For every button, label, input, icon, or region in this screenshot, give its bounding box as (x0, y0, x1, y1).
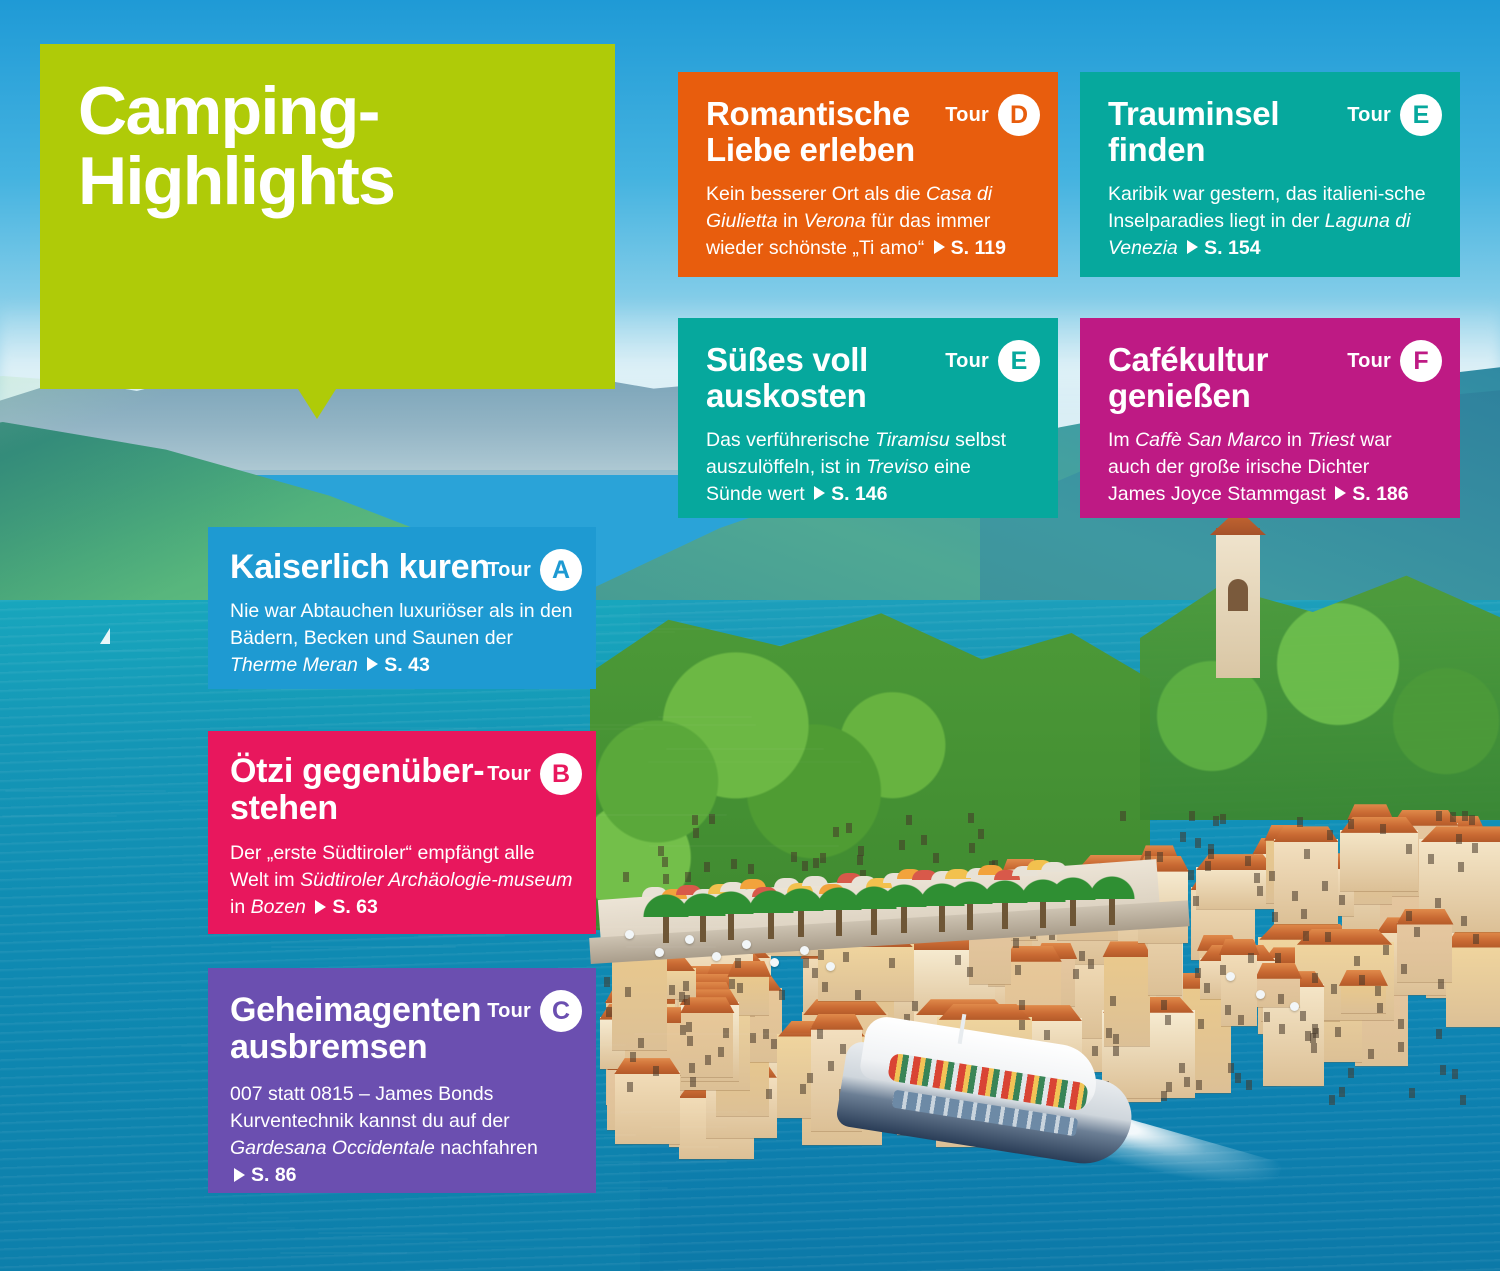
wave-line (318, 1232, 448, 1234)
window (748, 864, 754, 874)
window (1311, 1043, 1317, 1053)
buoy (742, 940, 751, 949)
palm-tree (836, 898, 842, 936)
window (1398, 1042, 1404, 1052)
window (731, 859, 737, 869)
play-triangle-icon (934, 240, 945, 254)
window (899, 840, 905, 850)
page-reference[interactable]: S. 154 (1183, 237, 1260, 259)
window (1297, 817, 1303, 827)
window (967, 967, 973, 977)
window (1383, 945, 1389, 955)
window (791, 852, 797, 862)
palm-tree (1040, 890, 1046, 928)
window (1264, 1012, 1270, 1022)
window (1165, 1015, 1171, 1025)
wave-line (308, 727, 477, 729)
window (1398, 1019, 1404, 1029)
window (1436, 811, 1442, 821)
window (766, 1089, 772, 1099)
wave-line (280, 1252, 408, 1254)
window (828, 1061, 834, 1071)
palm-tree (663, 905, 669, 943)
window (1312, 1024, 1318, 1034)
window (737, 983, 743, 993)
window (1079, 951, 1085, 961)
window (955, 955, 961, 965)
window (822, 982, 828, 992)
window (779, 990, 785, 1000)
wave-line (574, 926, 774, 928)
window (1278, 994, 1284, 1004)
window (669, 985, 675, 995)
window (813, 858, 819, 868)
window (1228, 1063, 1234, 1073)
window (692, 815, 698, 825)
tour-badge: TourF (1347, 340, 1442, 382)
window (1188, 870, 1194, 880)
tour-badge: TourE (1347, 94, 1442, 136)
window (1462, 811, 1468, 821)
wave-line (5, 790, 166, 792)
window (1401, 964, 1407, 974)
buoy (826, 962, 835, 971)
wave-line (589, 616, 740, 618)
window (1110, 996, 1116, 1006)
page-reference[interactable]: S. 186 (1331, 483, 1408, 505)
card-description: 007 statt 0815 – James Bonds Kurventechn… (230, 1081, 574, 1189)
place-name: Tiramisu (875, 429, 950, 451)
window (1377, 1003, 1383, 1013)
window (1245, 856, 1251, 866)
window (1335, 1027, 1341, 1037)
window (843, 952, 849, 962)
window (1359, 975, 1365, 985)
window (1327, 830, 1333, 840)
palm-tree (939, 894, 945, 932)
building (1196, 867, 1276, 909)
window (1019, 1000, 1025, 1010)
palm-tree (728, 902, 734, 940)
tour-badge: TourA (487, 549, 582, 591)
window (1073, 969, 1079, 979)
window (1452, 1069, 1458, 1079)
body-text: Kein besserer Ort als die (706, 183, 926, 205)
window (1195, 968, 1201, 978)
palm-tree (798, 899, 804, 937)
window (623, 872, 629, 882)
window (1246, 1080, 1252, 1090)
wave-line (649, 845, 838, 847)
wave-line (658, 716, 752, 718)
window (658, 846, 664, 856)
window (689, 1063, 695, 1073)
tour-letter-circle: A (540, 549, 582, 591)
window (1220, 814, 1226, 824)
wave-line (649, 628, 705, 630)
window (1406, 911, 1412, 921)
window (802, 861, 808, 871)
palm-tree (1109, 887, 1115, 925)
window (638, 1038, 644, 1048)
window (1339, 1087, 1345, 1097)
highlight-card-suesses-auskosten[interactable]: TourESüßes voll auskostenDas verführeris… (678, 318, 1058, 518)
window (1428, 854, 1434, 864)
highlight-card-cafekultur[interactable]: TourFCafékultur genießenIm Caffè San Mar… (1080, 318, 1460, 518)
place-name: Caffè San Marco (1135, 429, 1281, 451)
page-reference[interactable]: S. 86 (230, 1164, 297, 1186)
buoy (800, 946, 809, 955)
window (1189, 811, 1195, 821)
window (1198, 1019, 1204, 1029)
window (1331, 984, 1337, 994)
tour-label: Tour (1347, 350, 1391, 373)
wave-line (2, 815, 117, 817)
body-text: Das verführerische (706, 429, 875, 451)
window (800, 1084, 806, 1094)
body-text: Im (1108, 429, 1135, 451)
window (1325, 932, 1331, 942)
window (1301, 909, 1307, 919)
window (1180, 832, 1186, 842)
window (1354, 956, 1360, 966)
window (1435, 898, 1441, 908)
window (969, 843, 975, 853)
palm-tree (871, 897, 877, 935)
card-description: Der „erste Südtiroler“ empfängt alle Wel… (230, 840, 574, 921)
window (933, 853, 939, 863)
body-text: in (778, 210, 804, 232)
page-reference[interactable]: S. 146 (810, 483, 887, 505)
window (1015, 965, 1021, 975)
wave-line (666, 748, 825, 750)
window (1238, 1015, 1244, 1025)
place-name: Treviso (866, 456, 928, 478)
page-title: Camping- Highlights (78, 76, 394, 216)
window (978, 829, 984, 839)
window (604, 977, 610, 987)
body-text: Nie war Abtauchen luxuriöser als in den … (230, 600, 573, 649)
highlight-card-romantische-liebe[interactable]: TourDRomantische Liebe erlebenKein besse… (678, 72, 1058, 277)
tour-badge: TourE (945, 340, 1040, 382)
window (1161, 1000, 1167, 1010)
window (968, 813, 974, 823)
window (921, 835, 927, 845)
wave-line (449, 1246, 649, 1248)
window (771, 1039, 777, 1049)
window (1179, 1063, 1185, 1073)
tour-label: Tour (487, 1000, 531, 1023)
building (1446, 945, 1500, 1027)
window (833, 827, 839, 837)
play-triangle-icon (814, 486, 825, 500)
window (1292, 891, 1298, 901)
play-triangle-icon (367, 657, 378, 671)
palm-tree (768, 901, 774, 939)
window (1461, 916, 1467, 926)
place-name: Triest (1307, 429, 1354, 451)
wave-line (620, 1111, 748, 1113)
body-text: nachfahren (435, 1137, 538, 1159)
window (855, 990, 861, 1000)
window (1248, 953, 1254, 963)
card-description: Im Caffè San Marco in Triest war auch de… (1108, 427, 1432, 508)
tower-window (1228, 579, 1248, 611)
window (1257, 886, 1263, 896)
page-reference[interactable]: S. 43 (363, 654, 430, 676)
window (1204, 983, 1210, 993)
window (687, 1036, 693, 1046)
window (1375, 986, 1381, 996)
wave-line (147, 1069, 195, 1071)
title-callout: Camping- Highlights (40, 44, 615, 389)
window (1157, 852, 1163, 862)
window (1303, 931, 1309, 941)
buoy (770, 958, 779, 967)
window (818, 950, 824, 960)
palm-tree (967, 892, 973, 930)
building (1340, 830, 1418, 891)
wave-line (575, 1146, 718, 1148)
beach-umbrella (1041, 862, 1067, 872)
tour-badge: TourC (487, 990, 582, 1032)
window (812, 968, 818, 978)
window (679, 992, 685, 1002)
window (1348, 819, 1354, 829)
window (1275, 953, 1281, 963)
body-text: in (230, 896, 251, 918)
tour-badge: TourD (945, 94, 1040, 136)
callout-tail (298, 389, 336, 419)
ferry-boat (840, 1010, 1140, 1170)
window (1272, 912, 1278, 922)
window (1300, 1011, 1306, 1021)
tour-letter-circle: B (540, 753, 582, 795)
window (735, 958, 741, 968)
window (1456, 834, 1462, 844)
window (1193, 896, 1199, 906)
window (1322, 881, 1328, 891)
window (1368, 1049, 1374, 1059)
place-name: Verona (804, 210, 866, 232)
window (1304, 849, 1310, 859)
window (729, 979, 735, 989)
window (1440, 1065, 1446, 1075)
tour-label: Tour (945, 104, 989, 127)
buoy (1290, 1002, 1299, 1011)
place-name: Bozen (251, 896, 306, 918)
window (1450, 812, 1456, 822)
buoy (1226, 972, 1235, 981)
tour-letter-circle: D (998, 94, 1040, 136)
wave-line (271, 946, 456, 948)
play-triangle-icon (315, 900, 326, 914)
window (1269, 871, 1275, 881)
window (653, 1066, 659, 1076)
tour-label: Tour (487, 559, 531, 582)
wave-line (626, 946, 716, 948)
window (662, 857, 668, 867)
wave-line (56, 757, 159, 759)
highlight-card-kaiserlich-kuren[interactable]: TourAKaiserlich kurenNie war Abtauchen l… (208, 527, 596, 689)
palm-tree (700, 904, 706, 942)
wave-line (81, 945, 221, 947)
body-text: 007 statt 0815 – James Bonds Kurventechn… (230, 1083, 510, 1132)
play-triangle-icon (234, 1168, 245, 1182)
window (1208, 844, 1214, 854)
page-reference[interactable]: S. 119 (930, 237, 1006, 259)
highlight-card-oetzi[interactable]: TourBÖtzi gegenüber- stehenDer „erste Sü… (208, 731, 596, 934)
play-triangle-icon (1335, 486, 1346, 500)
window (1406, 844, 1412, 854)
card-description: Das verführerische Tiramisu selbst auszu… (706, 427, 1030, 508)
highlight-card-geheimagenten[interactable]: TourCGeheimagenten ausbremsen007 statt 0… (208, 968, 596, 1193)
wave-line (162, 962, 361, 964)
buoy (655, 948, 664, 957)
window (1279, 1024, 1285, 1034)
window (1184, 1077, 1190, 1087)
window (1166, 1082, 1172, 1092)
wave-line (304, 1238, 468, 1240)
tour-badge: TourB (487, 753, 582, 795)
window (1469, 815, 1475, 825)
wave-line (563, 728, 644, 730)
palm-tree (1070, 888, 1076, 926)
place-name: Therme Meran (230, 654, 358, 676)
card-description: Kein besserer Ort als die Casa di Giulie… (706, 181, 1030, 262)
window (1120, 811, 1126, 821)
window (1472, 843, 1478, 853)
window (820, 853, 826, 863)
tour-letter-circle: E (1400, 94, 1442, 136)
tour-letter-circle: F (1400, 340, 1442, 382)
window (803, 958, 809, 968)
window (857, 855, 863, 865)
window (1409, 1088, 1415, 1098)
wave-line (100, 650, 180, 652)
tour-letter-circle: C (540, 990, 582, 1032)
window (846, 823, 852, 833)
window (1196, 1080, 1202, 1090)
window (1436, 1029, 1442, 1039)
card-description: Karibik war gestern, das italieni-sche I… (1108, 181, 1432, 262)
play-triangle-icon (1187, 240, 1198, 254)
window (1458, 862, 1464, 872)
window (1312, 973, 1318, 983)
window (807, 1073, 813, 1083)
window (686, 1022, 692, 1032)
window (683, 981, 689, 991)
window (663, 874, 669, 884)
tour-label: Tour (487, 763, 531, 786)
place-name: Gardesana Occidentale (230, 1137, 435, 1159)
tour-label: Tour (1347, 104, 1391, 127)
window (606, 1007, 612, 1017)
wave-line (648, 761, 861, 763)
buoy (685, 935, 694, 944)
window (693, 828, 699, 838)
window (906, 815, 912, 825)
window (1195, 838, 1201, 848)
window (1473, 934, 1479, 944)
window (1460, 1095, 1466, 1105)
wave-line (418, 935, 506, 937)
window (1339, 895, 1345, 905)
window (1220, 965, 1226, 975)
place-name: Südtiroler Archäologie-museum (300, 869, 572, 891)
tour-letter-circle: E (998, 340, 1040, 382)
window (704, 862, 710, 872)
window (718, 1047, 724, 1057)
buoy (712, 952, 721, 961)
window (685, 872, 691, 882)
building (818, 944, 914, 1001)
window (1348, 1068, 1354, 1078)
buoy (625, 930, 634, 939)
window (1205, 861, 1211, 871)
tour-label: Tour (945, 350, 989, 373)
window (690, 1077, 696, 1087)
window (889, 958, 895, 968)
window (1235, 1073, 1241, 1083)
window (625, 987, 631, 997)
window (1225, 1005, 1231, 1015)
palm-tree (901, 895, 907, 933)
page-reference[interactable]: S. 63 (311, 896, 378, 918)
window (627, 1082, 633, 1092)
buoy (1256, 990, 1265, 999)
window (1013, 938, 1019, 948)
highlight-card-trauminsel[interactable]: TourETrauminsel findenKaribik war gester… (1080, 72, 1460, 277)
window (1380, 824, 1386, 834)
window (1414, 927, 1420, 937)
window (1438, 979, 1444, 989)
window (1088, 959, 1094, 969)
wave-line (543, 724, 756, 726)
palm-tree (1002, 891, 1008, 929)
window (1254, 873, 1260, 883)
body-text: in (1281, 429, 1307, 451)
window (1329, 1095, 1335, 1105)
wave-line (651, 1126, 727, 1128)
window (684, 995, 690, 1005)
card-description: Nie war Abtauchen luxuriöser als in den … (230, 598, 574, 679)
window (1213, 816, 1219, 826)
